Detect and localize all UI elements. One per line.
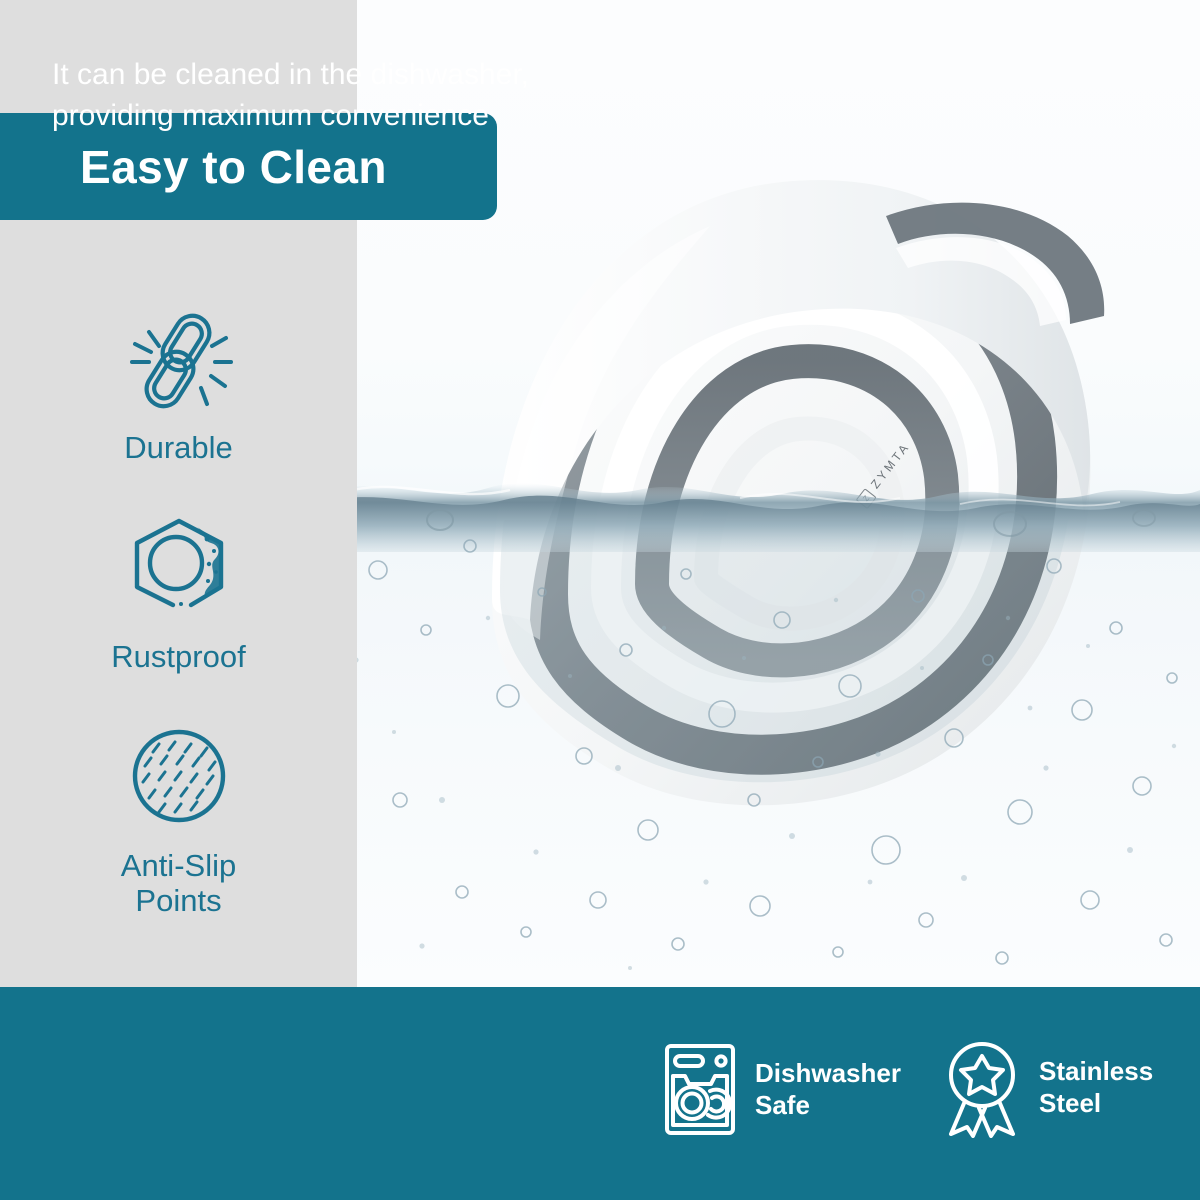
feature-label-rustproof: Rustproof — [111, 639, 245, 674]
feature-label-durable: Durable — [124, 430, 233, 465]
badge-steel-line2: Steel — [1039, 1088, 1101, 1118]
badge-dishwasher-label: Dishwasher Safe — [755, 1058, 901, 1121]
page-title: Easy to Clean — [0, 140, 387, 194]
feature-item-durable: Durable — [0, 300, 357, 465]
feature-item-rustproof: Rustproof — [0, 509, 357, 674]
badge-steel-label: Stainless Steel — [1039, 1056, 1153, 1119]
footer-description-line1: It can be cleaned in the dishwasher, — [52, 58, 529, 91]
badge-steel-line1: Stainless — [1039, 1056, 1153, 1086]
chain-links-sparkle-icon — [119, 300, 239, 420]
badge-dishwasher-safe: Dishwasher Safe — [663, 1042, 901, 1137]
badge-dishwasher-line1: Dishwasher — [755, 1058, 901, 1088]
textured-circle-dots-icon — [119, 718, 239, 838]
dishwasher-icon — [663, 1042, 737, 1137]
feature-item-antislip: Anti-SlipPoints — [0, 718, 357, 918]
badge-stainless-steel: Stainless Steel — [943, 1038, 1153, 1138]
badge-dishwasher-line2: Safe — [755, 1090, 810, 1120]
footer-description: It can be cleaned in the dishwasher, pro… — [52, 55, 642, 136]
footer-description-line2: providing maximum convenience — [52, 99, 489, 132]
feature-label-antislip-line1: Anti-Slip — [121, 848, 236, 883]
award-ribbon-icon — [943, 1038, 1021, 1138]
product-feature-graphic: Z ZYMTA — [0, 0, 1200, 1200]
hex-nut-corrosion-icon — [119, 509, 239, 629]
feature-list: Durable Rustproof — [0, 300, 357, 918]
underwater-bubbles — [330, 500, 1200, 987]
feature-label-antislip-line2: Points — [135, 883, 221, 918]
feature-label-antislip: Anti-SlipPoints — [121, 848, 236, 918]
